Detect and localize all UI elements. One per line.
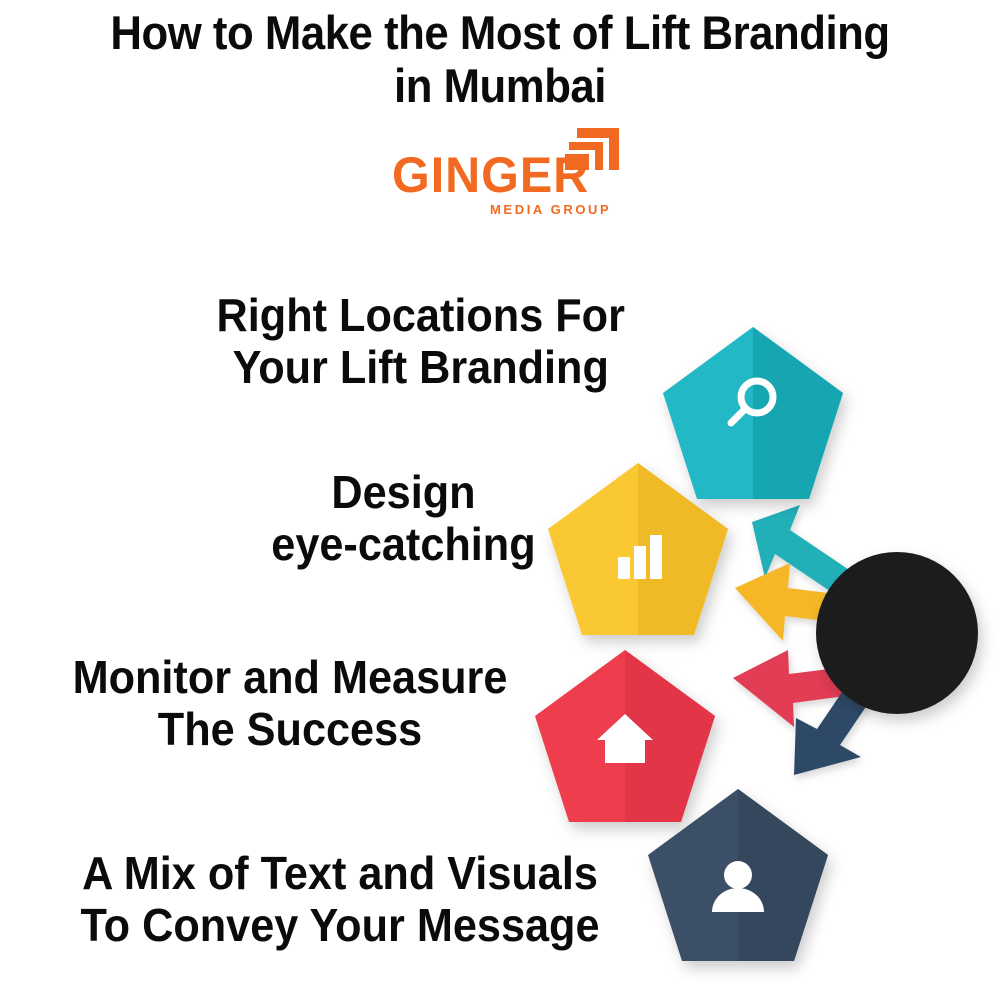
arrow-left-upper bbox=[735, 563, 885, 641]
pentagon-4[interactable] bbox=[648, 789, 828, 961]
stepped-squares-icon bbox=[565, 128, 619, 180]
home-icon bbox=[597, 714, 653, 763]
page-title: How to Make the Most of Lift Branding in… bbox=[35, 6, 965, 112]
arrow-left-lower bbox=[733, 650, 890, 727]
point-text-1-line-2: Your Lift Branding bbox=[129, 342, 712, 394]
point-text-2: Design eye-catching bbox=[178, 467, 629, 571]
point-text-3-line-1: Monitor and Measure bbox=[8, 652, 572, 704]
magnifier-icon bbox=[731, 381, 773, 423]
arrow-up-left bbox=[752, 505, 870, 608]
page-title-line-2: in Mumbai bbox=[35, 59, 965, 112]
arrow-down-left bbox=[794, 648, 895, 775]
page-title-line-1: How to Make the Most of Lift Branding bbox=[35, 6, 965, 59]
logo-tagline: MEDIA GROUP bbox=[490, 202, 611, 217]
point-text-4: A Mix of Text and Visuals To Convey Your… bbox=[11, 848, 669, 952]
point-text-3: Monitor and Measure The Success bbox=[8, 652, 572, 756]
black-circle bbox=[816, 552, 978, 714]
point-text-3-line-2: The Success bbox=[8, 704, 572, 756]
point-text-2-line-2: eye-catching bbox=[178, 519, 629, 571]
logo-wordmark: GINGER bbox=[392, 150, 589, 200]
infographic-canvas: How to Make the Most of Lift Branding in… bbox=[0, 0, 1000, 1000]
point-text-2-line-1: Design bbox=[178, 467, 629, 519]
point-text-1-line-1: Right Locations For bbox=[129, 290, 712, 342]
point-text-4-line-2: To Convey Your Message bbox=[11, 900, 669, 952]
point-text-1: Right Locations For Your Lift Branding bbox=[129, 290, 712, 394]
brand-logo: GINGER MEDIA GROUP bbox=[392, 128, 622, 226]
point-text-4-line-1: A Mix of Text and Visuals bbox=[11, 848, 669, 900]
user-icon bbox=[712, 861, 764, 912]
